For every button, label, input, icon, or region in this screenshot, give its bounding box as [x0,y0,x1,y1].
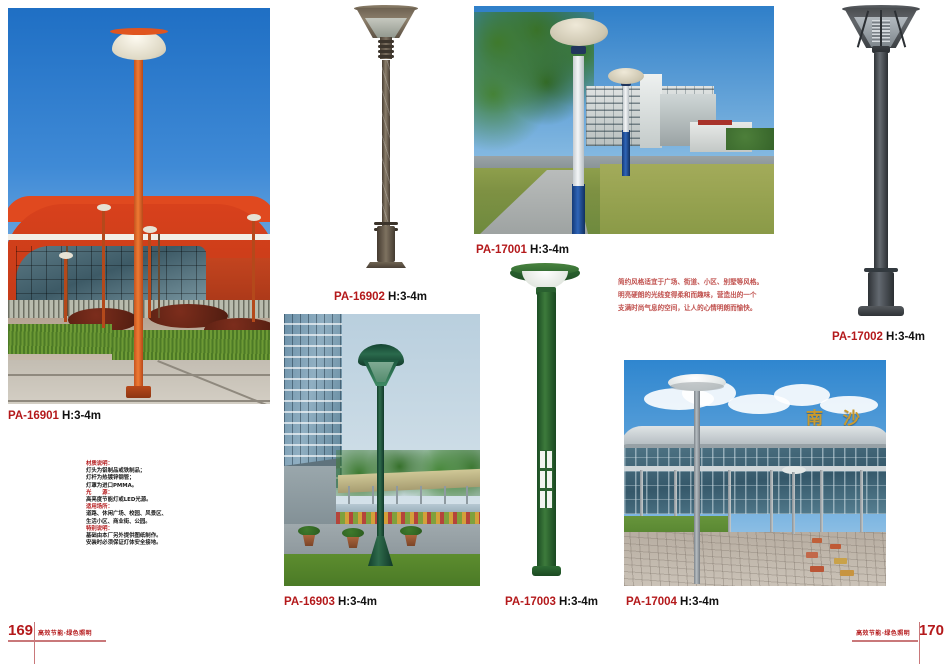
potted-plant-foliage [298,526,320,536]
lamp-anchor-plate [366,262,406,268]
model-height: H:3-4m [530,244,569,256]
spec-material-line-2: 灯杆为热镀锌钢管； [86,475,216,482]
spec-place-line-2: 生活小区、商业街、公园。 [86,519,216,526]
caption-pa-17002: PA-17002H:3-4m [832,331,925,343]
facade-column [820,470,823,532]
front-lamp-disc-head [550,18,608,46]
lamp-pole [377,378,384,550]
lamp-base [532,566,561,576]
paving-joint [8,400,270,402]
facade-column [770,470,773,532]
rear-lamp-pole-lower [622,130,630,176]
caption-pa-17001: PA-17001H:3-4m [476,244,569,256]
footer-divider-right [919,622,920,664]
caption-pa-16902: PA-16902H:3-4m [334,291,427,303]
lamp-pole [134,56,143,396]
spec-note-heading: 特别说明： [86,526,216,533]
product-shot-pa-16902[interactable] [332,4,440,280]
lamp-shaft [874,52,888,274]
building-glass-facade [16,246,206,308]
red-roof-accent [698,120,732,125]
model-height: H:3-4m [559,596,598,608]
shaft-twist-texture [382,60,390,228]
office-tower-block [640,74,662,148]
background-lamp-head [143,226,157,233]
lamp-disc-underside [670,382,724,391]
front-lamp-pole-lower [572,184,585,234]
page-number-left: 169 [8,622,33,639]
neck-ring [378,40,394,43]
spec-note-line-2: 安装时必须保证灯体安全接地。 [86,540,216,547]
blurb-line-1: 简约风格适宜于广场、街道、小区、别墅等风格。 [618,276,813,289]
footer-left: 169 高效节能·绿色照明 [0,610,200,654]
blurb-line-3: 支满时尚气息的空间，让人的心情明朗而愉快。 [618,302,813,315]
paving-pattern-tile [806,552,818,558]
base-ring [374,222,398,225]
footer-right: 高效节能·绿色照明 170 [750,610,950,654]
model-height: H:3-4m [62,410,101,422]
product-shot-pa-17002[interactable] [822,4,940,322]
distant-trees [726,128,774,150]
model-height: H:3-4m [338,596,377,608]
neck-ring [378,50,394,53]
page-number-right: 170 [919,622,944,639]
footer-slogan-left: 高效节能·绿色照明 [38,628,92,637]
background-lamp-post [148,230,151,318]
background-lamp-post [252,218,255,322]
paving-pattern-tile [830,544,841,549]
caption-pa-16903: PA-16903H:3-4m [284,596,377,608]
paving-pattern-tile [840,570,854,576]
lamp-pole [694,388,700,584]
neck-ring [378,45,394,48]
lamp-globe-rim [110,28,168,35]
caption-pa-17004: PA-17004H:3-4m [626,596,719,608]
background-lamp-post [64,256,67,322]
rear-lamp-pole-upper [623,86,629,132]
background-lamp-post [102,208,105,328]
rear-lamp-disc-head [608,68,644,84]
model-height: H:3-4m [388,291,427,303]
front-lamp-collar [571,46,586,54]
lamp-anchor-base [858,306,904,316]
facade-column [860,470,863,532]
footer-slogan-right: 高效节能·绿色照明 [856,628,910,637]
blurb-line-2: 明亮硬朗的光线变得柔和而趣味，营造出的一个 [618,289,813,302]
model-number: PA-17002 [832,331,883,343]
specification-block: 材质说明： 灯头为铝制品或铁制品； 灯杆为热镀锌钢管； 灯罩为进口PMMA。 光… [86,461,216,547]
model-height: H:3-4m [886,331,925,343]
neck-ring [378,55,394,58]
shade-rib [880,10,882,48]
marketing-blurb: 简约风格适宜于广场、街道、小区、别墅等风格。 明亮硬朗的光线变得柔和而趣味，营造… [618,276,813,315]
background-lamp-head [247,214,261,221]
lamp-pole-base [126,386,151,398]
background-lamp-head [59,252,73,259]
model-number: PA-17001 [476,244,527,256]
spec-source-heading: 光 源： [86,490,216,497]
product-photo-pa-17004[interactable]: 南 沙 [624,360,886,586]
spec-material-line-3: 灯罩为进口PMMA。 [86,483,216,490]
model-number: PA-16903 [284,596,335,608]
paving-pattern-tile [810,566,824,572]
background-lamp-head [97,204,111,211]
terminal-canopy [624,466,886,471]
background-lamp-pole [792,472,795,534]
footer-divider-left [34,622,35,664]
potted-plant-foliage [400,526,422,536]
caption-pa-16901: PA-16901H:3-4m [8,410,101,422]
glass-mullion-grid [16,246,206,308]
caption-pa-17003: PA-17003H:3-4m [505,596,598,608]
product-shot-pa-17003[interactable] [492,258,598,588]
product-photo-pa-16901[interactable] [8,8,270,404]
potted-plant-foliage [342,528,364,538]
model-height: H:3-4m [680,596,719,608]
product-photo-pa-17001[interactable] [474,6,774,234]
lamp-base-boot [868,272,894,310]
product-photo-pa-16903[interactable] [284,314,480,586]
footer-rule-left [8,640,106,642]
model-number: PA-16901 [8,410,59,422]
terminal-glass-grid [624,448,886,514]
facade-column [728,470,731,532]
green-hedge [8,324,112,354]
paving-pattern-tile [812,538,822,543]
footer-rule-right [852,640,918,642]
model-number: PA-17003 [505,596,556,608]
front-lamp-pole-upper [573,56,584,186]
paving-pattern-tile [834,558,847,564]
catalog-page-spread: PA-16901H:3-4m PA-16902H:3-4m [0,0,950,654]
lamp-base-boot [377,226,395,262]
model-number: PA-16902 [334,291,385,303]
bare-tree [158,234,160,318]
column-window-grid [540,450,553,508]
spec-place-line-1: 道路、休闲广场、校园、风景区、 [86,511,216,518]
lamp-column [537,292,556,572]
model-number: PA-17004 [626,596,677,608]
